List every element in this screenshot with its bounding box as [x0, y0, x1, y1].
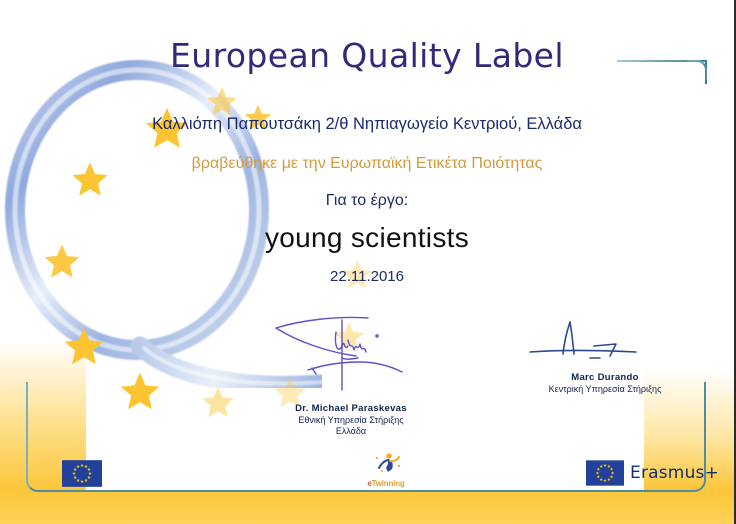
signature-country: Ελλάδα [226, 426, 476, 437]
signature-block-durando: Marc Durando Κεντρική Υπηρεσία Στήριξης [480, 372, 730, 395]
signature-name: Dr. Michael Paraskevas [226, 403, 476, 415]
signature-block-paraskevas: Dr. Michael Paraskevas Εθνική Υπηρεσία Σ… [226, 403, 476, 437]
page-background [0, 0, 734, 524]
page-title: European Quality Label [0, 36, 734, 75]
award-date: 22.11.2016 [0, 268, 734, 285]
european-union-flag-icon [586, 460, 624, 486]
etwinning-wordmark-rest: Twinning [372, 479, 405, 488]
european-union-flag-icon [62, 460, 102, 487]
signature-role: Εθνική Υπηρεσία Στήριξης [226, 415, 476, 426]
signature-role: Κεντρική Υπηρεσία Στήριξης [480, 384, 730, 395]
signature-name: Marc Durando [480, 372, 730, 384]
etwinning-figure-icon [366, 452, 406, 474]
erasmus-plus-wordmark: Erasmus+ [630, 463, 719, 483]
footer-yellow-band [0, 490, 734, 524]
project-name: young scientists [0, 222, 734, 254]
etwinning-logo: eTwinning [358, 452, 414, 486]
erasmus-plus-logo: Erasmus+ [586, 458, 719, 488]
certificate-page: European Quality Label Καλλιόπη Παπουτσά… [0, 0, 736, 524]
for-project-label: Για το έργο: [0, 192, 734, 210]
award-statement: βραβεύθηκε με την Ευρωπαϊκή Ετικέτα Ποιό… [0, 155, 734, 173]
etwinning-wordmark: eTwinning [358, 479, 414, 488]
recipient-name: Καλλιόπη Παπουτσάκη 2/θ Νηπιαγωγείο Κεντ… [0, 115, 734, 134]
